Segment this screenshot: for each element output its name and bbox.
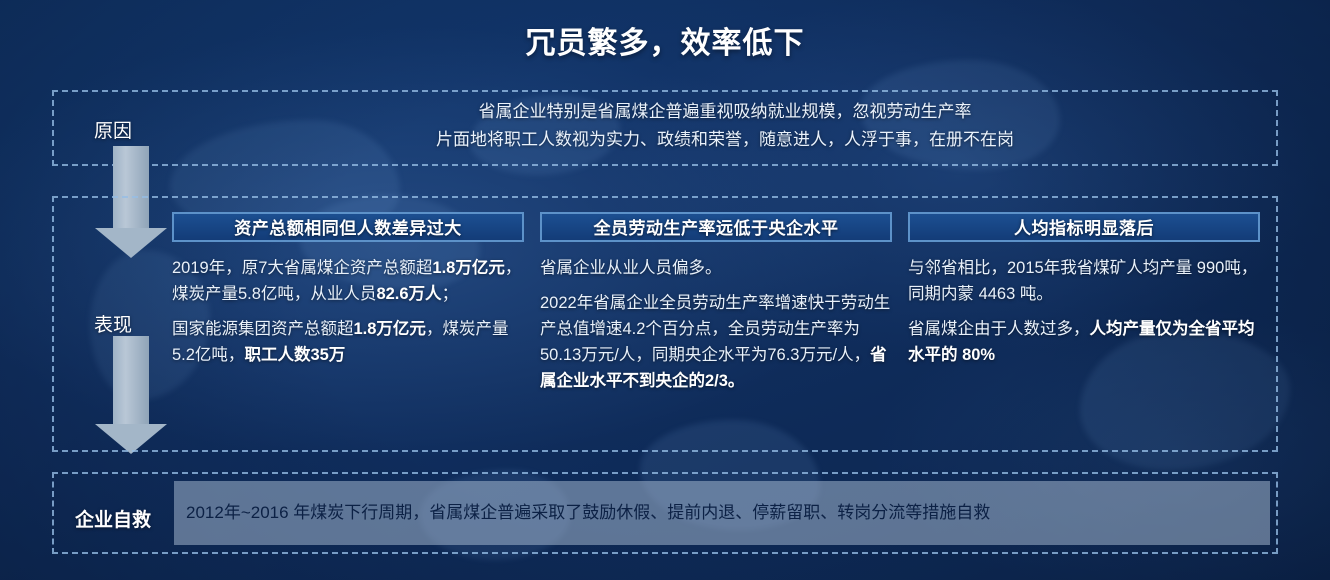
manifestation-paragraph: 2022年省属企业全员劳动生产率增速快于劳动生产总值增速4.2个百分点，全员劳动… xyxy=(540,290,892,394)
rescue-text-box: 2012年~2016 年煤炭下行周期，省属煤企普遍采取了鼓励休假、提前内退、停薪… xyxy=(174,481,1270,545)
body-text: 省属煤企由于人数过多， xyxy=(908,320,1090,338)
cause-line: 省属企业特别是省属煤企普遍重视吸纳就业规模，忽视劳动生产率 xyxy=(190,98,1260,126)
row-label-rescue: 企业自救 xyxy=(58,505,168,532)
manifestation-paragraph: 2019年，原7大省属煤企资产总额超1.8万亿元，煤炭产量5.8亿吨，从业人员8… xyxy=(172,255,524,307)
row-label-manifestation: 表现 xyxy=(58,310,168,337)
manifestation-paragraph: 省属企业从业人员偏多。 xyxy=(540,255,892,281)
manifestation-column-body: 与邻省相比，2015年我省煤矿人均产量 990吨，同期内蒙 4463 吨。省属煤… xyxy=(908,255,1260,368)
cause-text-block: 省属企业特别是省属煤企普遍重视吸纳就业规模，忽视劳动生产率 片面地将职工人数视为… xyxy=(190,98,1260,154)
emphasis-text: 职工人数35万 xyxy=(244,346,345,364)
body-text: 与邻省相比，2015年我省煤矿人均产量 990吨，同期内蒙 4463 吨。 xyxy=(908,259,1257,303)
manifestation-column-body: 省属企业从业人员偏多。2022年省属企业全员劳动生产率增速快于劳动生产总值增速4… xyxy=(540,255,892,394)
manifestation-column-heading: 资产总额相同但人数差异过大 xyxy=(172,212,524,242)
body-text: 国家能源集团资产总额超 xyxy=(172,320,354,338)
emphasis-text: 1.8万亿元 xyxy=(354,320,426,338)
manifestation-columns: 资产总额相同但人数差异过大2019年，原7大省属煤企资产总额超1.8万亿元，煤炭… xyxy=(172,212,1272,442)
manifestation-column-heading: 全员劳动生产率远低于央企水平 xyxy=(540,212,892,242)
body-text: 2022年省属企业全员劳动生产率增速快于劳动生产总值增速4.2个百分点，全员劳动… xyxy=(540,294,890,364)
body-text: 2019年，原7大省属煤企资产总额超 xyxy=(172,259,432,277)
manifestation-column: 人均指标明显落后与邻省相比，2015年我省煤矿人均产量 990吨，同期内蒙 44… xyxy=(908,212,1260,442)
emphasis-text: 82.6万人 xyxy=(376,285,441,303)
emphasis-text: 1.8万亿元 xyxy=(432,259,504,277)
manifestation-column: 全员劳动生产率远低于央企水平省属企业从业人员偏多。2022年省属企业全员劳动生产… xyxy=(540,212,892,442)
manifestation-paragraph: 与邻省相比，2015年我省煤矿人均产量 990吨，同期内蒙 4463 吨。 xyxy=(908,255,1260,307)
slide-title: 冗员繁多，效率低下 xyxy=(0,18,1330,62)
rescue-text: 2012年~2016 年煤炭下行周期，省属煤企普遍采取了鼓励休假、提前内退、停薪… xyxy=(174,501,990,525)
manifestation-column-heading: 人均指标明显落后 xyxy=(908,212,1260,242)
body-text: ； xyxy=(442,285,459,303)
row-label-cause: 原因 xyxy=(58,116,168,143)
manifestation-column-body: 2019年，原7大省属煤企资产总额超1.8万亿元，煤炭产量5.8亿吨，从业人员8… xyxy=(172,255,524,368)
body-text: 省属企业从业人员偏多。 xyxy=(540,259,722,277)
manifestation-paragraph: 国家能源集团资产总额超1.8万亿元，煤炭产量5.2亿吨，职工人数35万 xyxy=(172,316,524,368)
cause-line: 片面地将职工人数视为实力、政绩和荣誉，随意进人，人浮于事，在册不在岗 xyxy=(190,126,1260,154)
manifestation-paragraph: 省属煤企由于人数过多，人均产量仅为全省平均水平的 80% xyxy=(908,316,1260,368)
manifestation-column: 资产总额相同但人数差异过大2019年，原7大省属煤企资产总额超1.8万亿元，煤炭… xyxy=(172,212,524,442)
